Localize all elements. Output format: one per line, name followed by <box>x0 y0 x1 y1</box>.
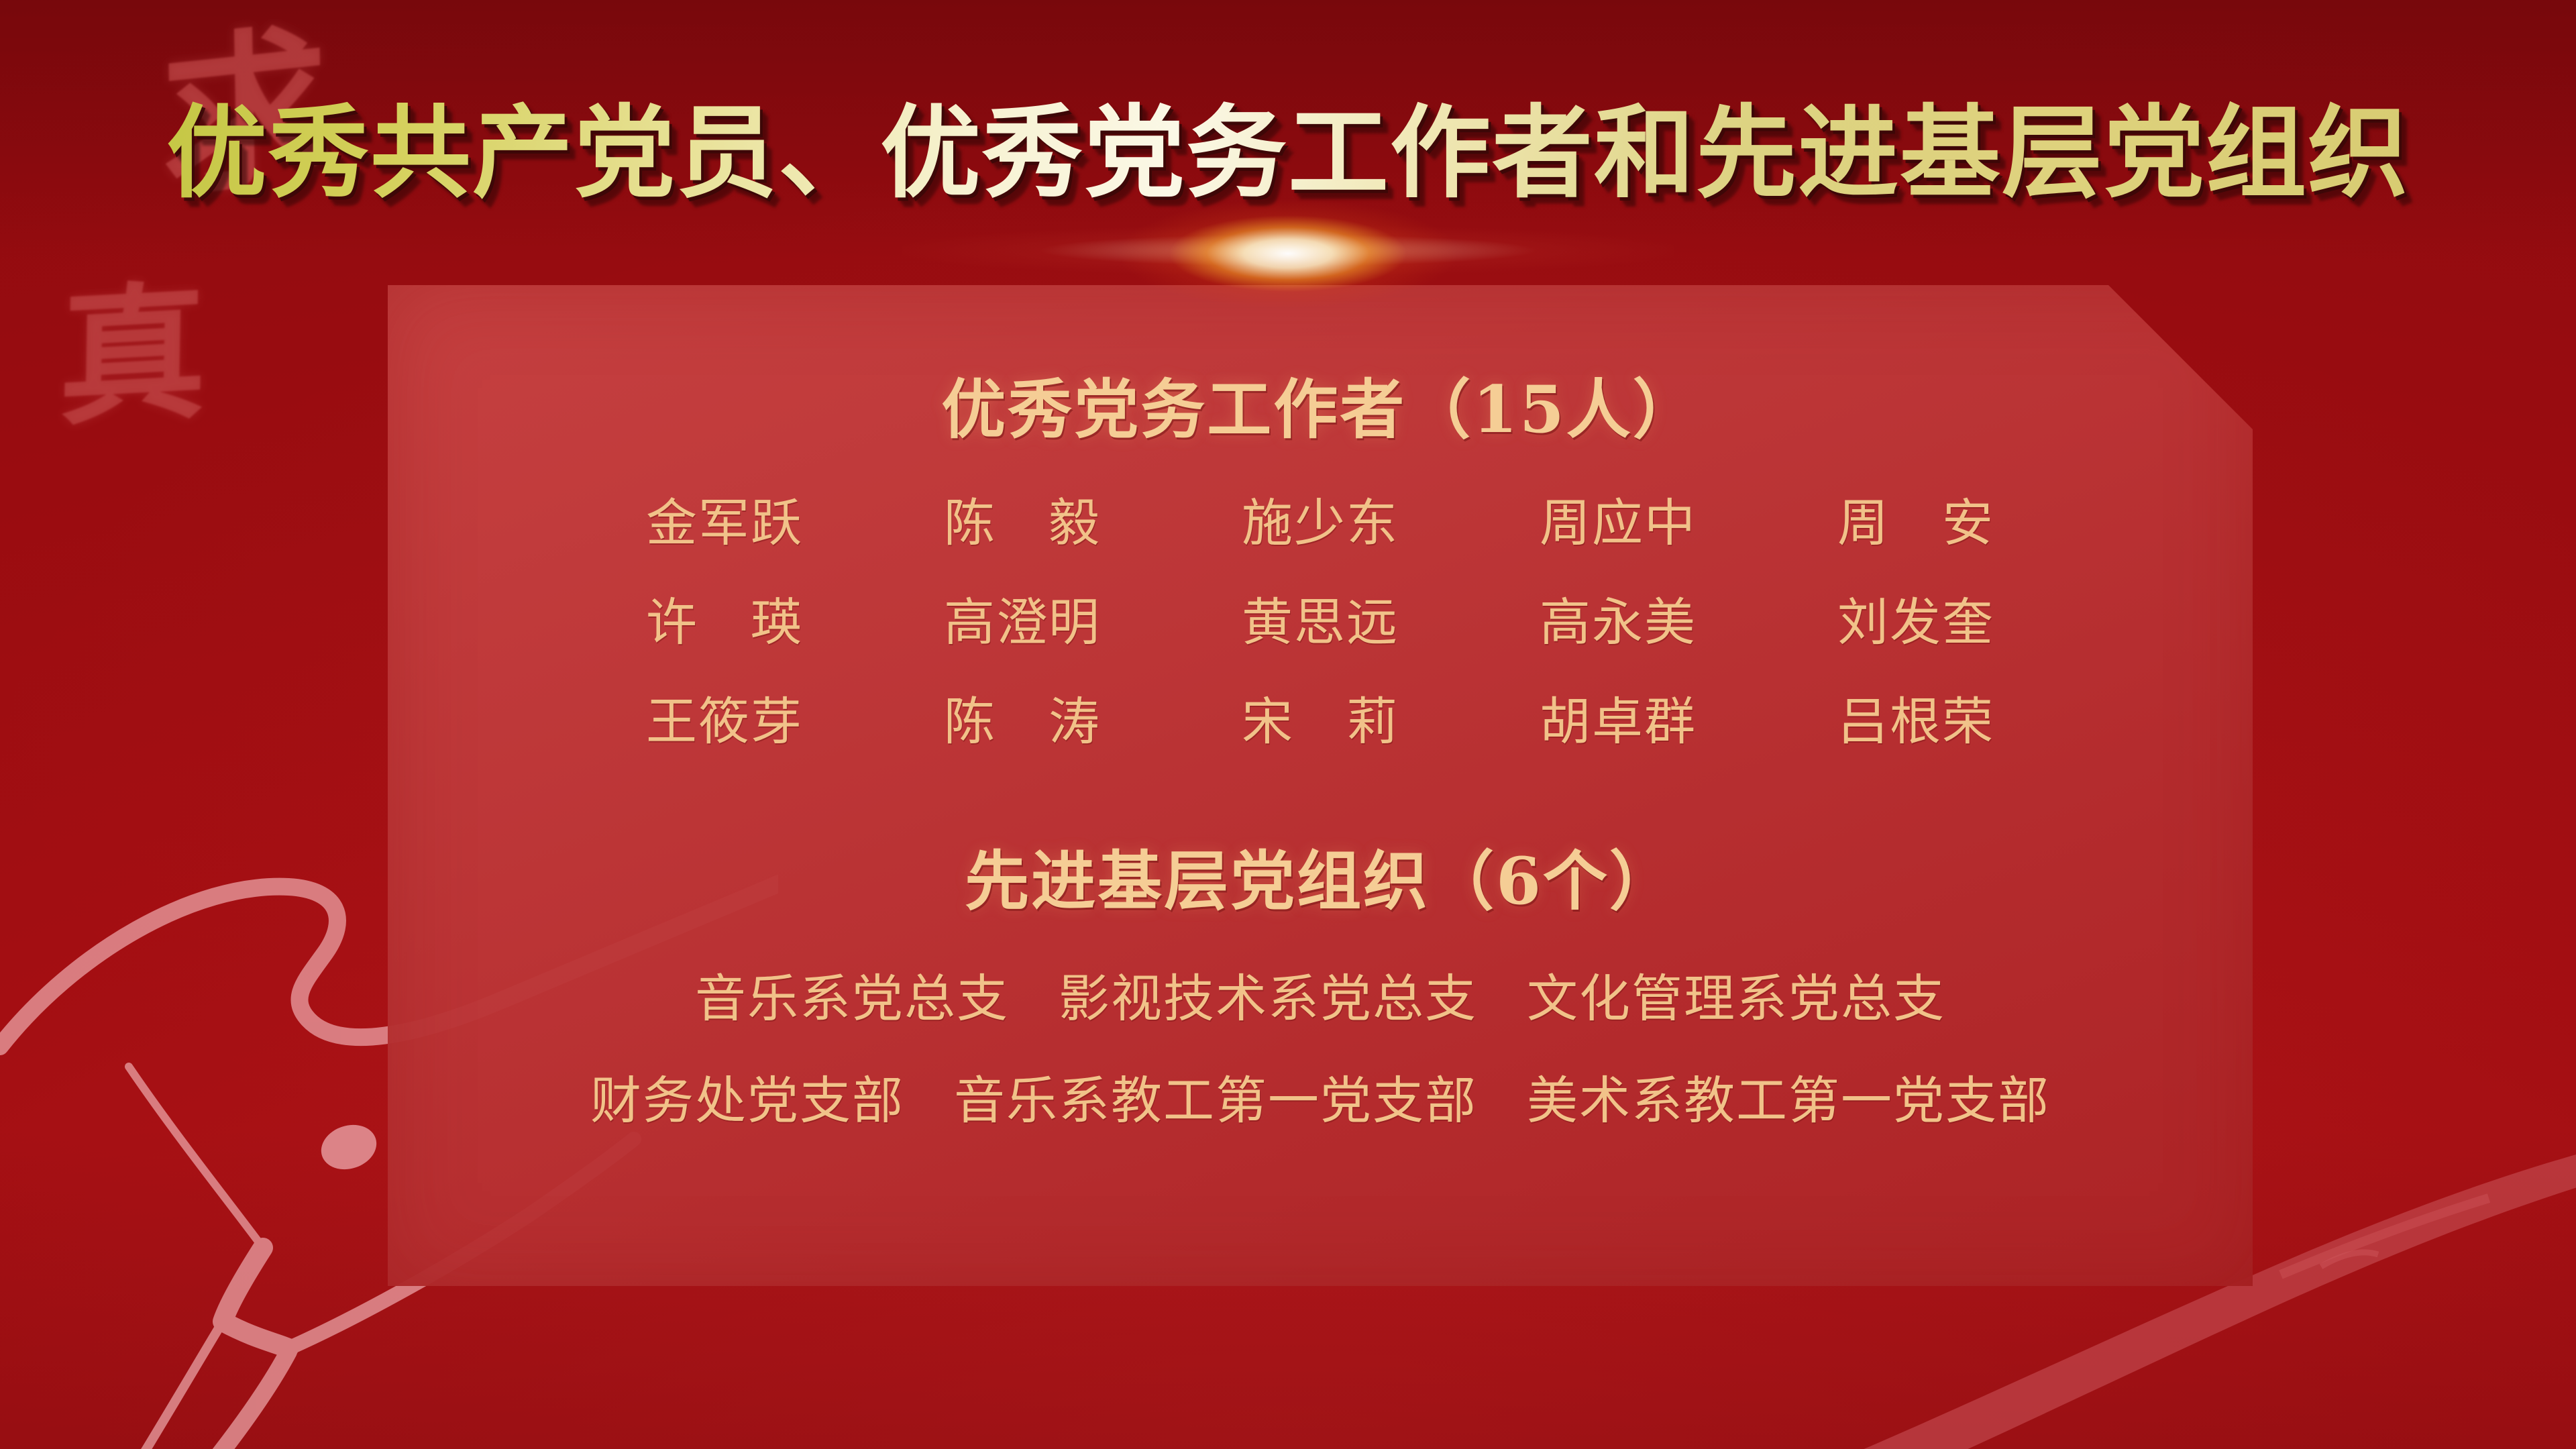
organization-name: 影视技术系党总支 <box>1059 957 1477 1031</box>
award-name: 胡卓群 <box>1469 680 1767 754</box>
section-heading-outstanding-party-workers: 优秀党务工作者（15人） <box>388 358 2253 451</box>
award-name: 陈 涛 <box>873 680 1171 754</box>
award-name: 吕根荣 <box>1767 680 2065 754</box>
award-name: 王筱芽 <box>576 680 873 754</box>
panel-content: 优秀党务工作者（15人） 金军跃 陈 毅 施少东 周应中 周 安 许 瑛 高澄明… <box>388 285 2253 1286</box>
organization-row: 财务处党支部 音乐系教工第一党支部 美术系教工第一党支部 <box>388 1059 2253 1133</box>
award-name-grid: 金军跃 陈 毅 施少东 周应中 周 安 许 瑛 高澄明 黄思远 高永美 刘发奎 … <box>576 482 2065 754</box>
award-name: 黄思远 <box>1171 581 1469 655</box>
organization-name: 音乐系党总支 <box>695 957 1009 1031</box>
award-name: 金军跃 <box>576 482 873 555</box>
award-name: 高澄明 <box>873 581 1171 655</box>
calligraphy-watermark-zhen: 真 <box>58 278 208 433</box>
title-area: 优秀共产党员、优秀党务工作者和先进基层党组织 <box>0 101 2576 207</box>
section-heading-advanced-grassroots-organizations: 先进基层党组织（6个） <box>388 829 2253 922</box>
award-name: 陈 毅 <box>873 482 1171 555</box>
organization-name: 财务处党支部 <box>590 1059 904 1133</box>
award-name: 周应中 <box>1469 482 1767 555</box>
page-title: 优秀共产党员、优秀党务工作者和先进基层党组织 <box>166 101 2410 207</box>
organization-name: 音乐系教工第一党支部 <box>954 1059 1477 1133</box>
award-name: 许 瑛 <box>576 581 873 655</box>
award-name: 周 安 <box>1767 482 2065 555</box>
organization-name: 文化管理系党总支 <box>1527 957 1945 1031</box>
award-name: 刘发奎 <box>1767 581 2065 655</box>
award-name: 施少东 <box>1171 482 1469 555</box>
award-name: 高永美 <box>1469 581 1767 655</box>
organization-row: 音乐系党总支 影视技术系党总支 文化管理系党总支 <box>388 957 2253 1031</box>
award-name: 宋 莉 <box>1171 680 1469 754</box>
slide-stage: 求 真 优秀共产党员、优秀党务工作者和先进基层党组织 优秀党务工作者（15人） … <box>0 0 2576 1449</box>
organization-name: 美术系教工第一党支部 <box>1527 1059 2050 1133</box>
organization-list: 音乐系党总支 影视技术系党总支 文化管理系党总支 财务处党支部 音乐系教工第一党… <box>388 957 2253 1133</box>
